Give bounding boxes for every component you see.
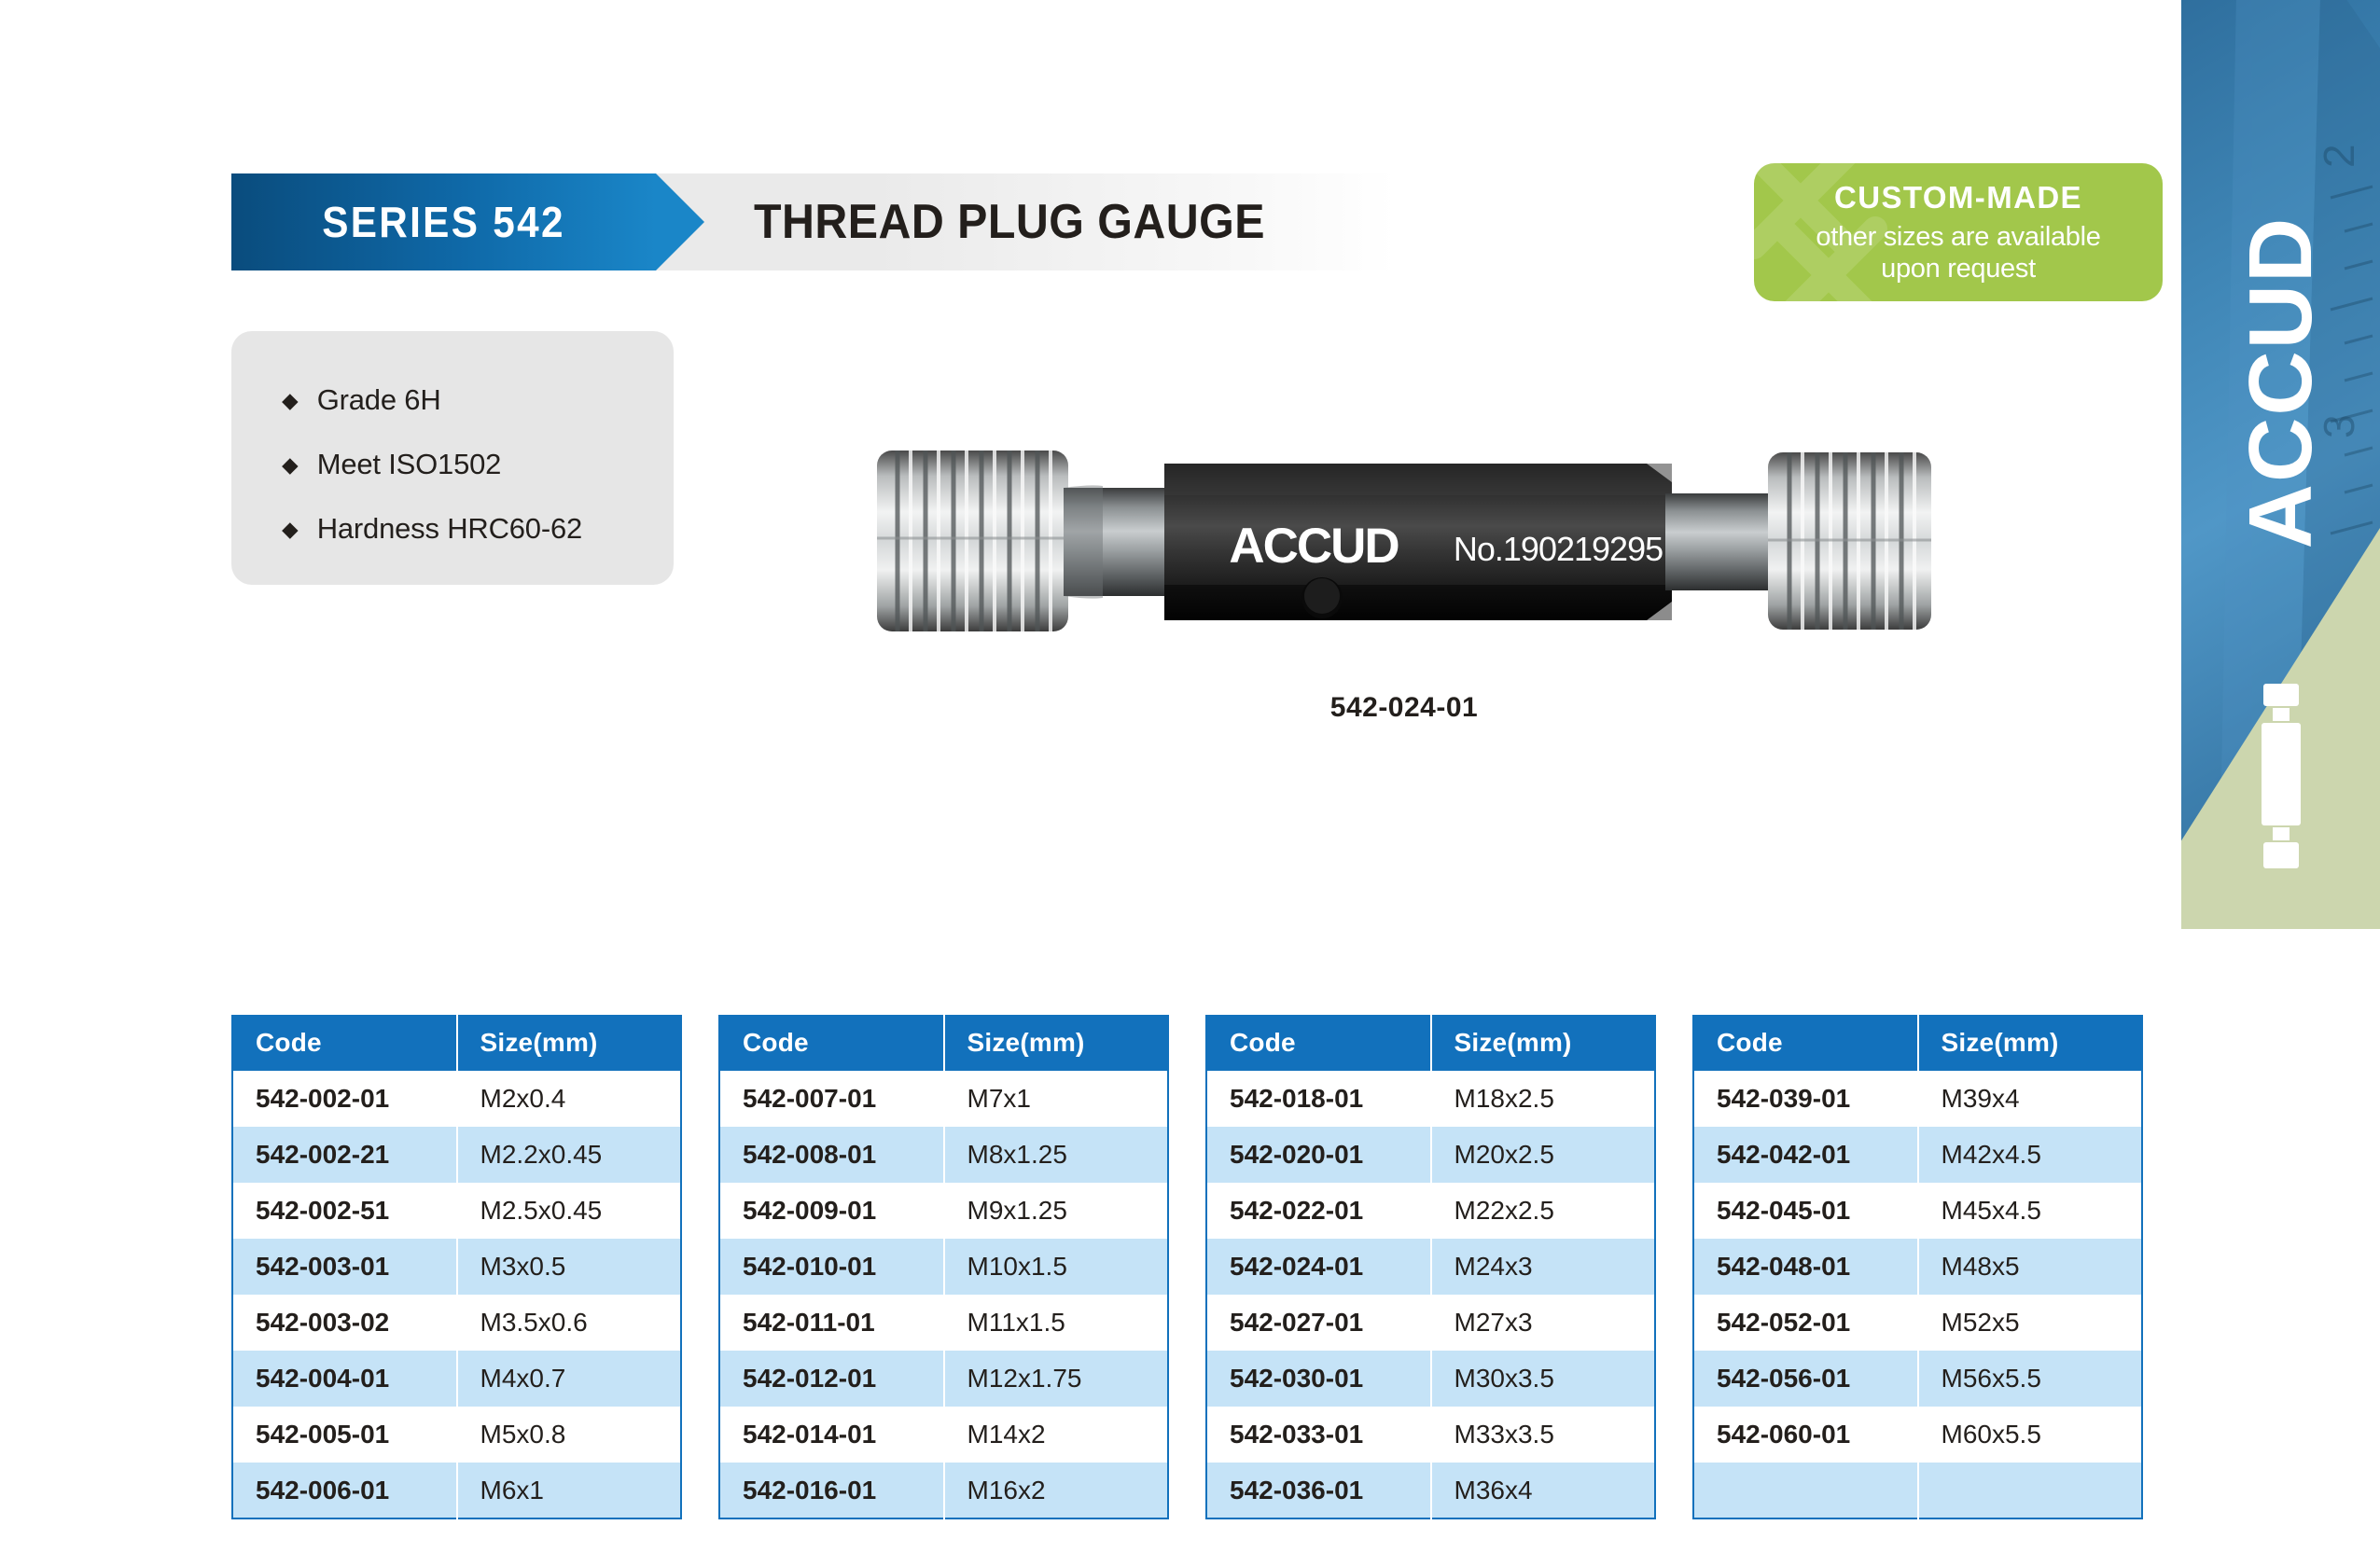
- cell-size: M11x1.5: [944, 1295, 1169, 1351]
- column-header-code: Code: [1206, 1016, 1431, 1071]
- page-title: THREAD PLUG GAUGE: [754, 173, 1265, 270]
- badge-subtitle-line2: upon request: [1881, 254, 2036, 284]
- cell-code: 542-016-01: [719, 1463, 944, 1518]
- cell-code: 542-010-01: [719, 1239, 944, 1295]
- size-table-2: Code Size(mm) 542-007-01 M7x1 542-008-01…: [718, 1015, 1169, 1519]
- diamond-bullet-icon: ◆: [282, 519, 299, 540]
- feature-item: ◆ Meet ISO1502: [282, 448, 674, 481]
- badge-subtitle-line1: other sizes are available: [1816, 222, 2100, 252]
- cell-size: M20x2.5: [1431, 1127, 1656, 1183]
- cell-code: 542-056-01: [1693, 1351, 1918, 1407]
- column-header-size: Size(mm): [1431, 1016, 1656, 1071]
- cell-size: M24x3: [1431, 1239, 1656, 1295]
- cell-size: [1918, 1463, 2143, 1518]
- product-image: ACCUD No.190219295: [868, 424, 1941, 658]
- cell-size: M33x3.5: [1431, 1407, 1656, 1463]
- table-row: 542-022-01 M22x2.5: [1206, 1183, 1655, 1239]
- table-row: 542-004-01 M4x0.7: [232, 1351, 681, 1407]
- column-header-size: Size(mm): [1918, 1016, 2143, 1071]
- cell-code: 542-014-01: [719, 1407, 944, 1463]
- cell-code: 542-002-21: [232, 1127, 457, 1183]
- table-row: 542-039-01 M39x4: [1693, 1071, 2142, 1127]
- table-row: 542-002-51 M2.5x0.45: [232, 1183, 681, 1239]
- cell-code: 542-030-01: [1206, 1351, 1431, 1407]
- cell-size: M45x4.5: [1918, 1183, 2143, 1239]
- cell-code: 542-003-02: [232, 1295, 457, 1351]
- size-table-3: Code Size(mm) 542-018-01 M18x2.5 542-020…: [1205, 1015, 1656, 1519]
- table-row: 542-016-01 M16x2: [719, 1463, 1168, 1518]
- cell-size: M3x0.5: [457, 1239, 682, 1295]
- table-header-row: Code Size(mm): [1693, 1016, 2142, 1071]
- size-tables: Code Size(mm) 542-002-01 M2x0.4 542-002-…: [231, 1015, 2163, 1500]
- cell-size: M3.5x0.6: [457, 1295, 682, 1351]
- cell-size: M16x2: [944, 1463, 1169, 1518]
- cell-size: M5x0.8: [457, 1407, 682, 1463]
- custom-made-badge: CUSTOM-MADE other sizes are available up…: [1754, 163, 2163, 301]
- cell-code: 542-011-01: [719, 1295, 944, 1351]
- column-header-size: Size(mm): [457, 1016, 682, 1071]
- table-row: 542-012-01 M12x1.75: [719, 1351, 1168, 1407]
- cell-size: M12x1.75: [944, 1351, 1169, 1407]
- column-header-code: Code: [1693, 1016, 1918, 1071]
- product-caption: 542-024-01: [868, 692, 1941, 724]
- feature-item: ◆ Grade 6H: [282, 383, 674, 417]
- table-row: 542-002-01 M2x0.4: [232, 1071, 681, 1127]
- cell-code: 542-002-01: [232, 1071, 457, 1127]
- table-row: 542-020-01 M20x2.5: [1206, 1127, 1655, 1183]
- page-header-band: SERIES 542 THREAD PLUG GAUGE: [231, 173, 1396, 270]
- product-serial-text: No.190219295: [1454, 530, 1663, 568]
- table-row: 542-048-01 M48x5: [1693, 1239, 2142, 1295]
- cell-size: M18x2.5: [1431, 1071, 1656, 1127]
- table-row: 542-003-01 M3x0.5: [232, 1239, 681, 1295]
- cell-code: 542-009-01: [719, 1183, 944, 1239]
- sidebar-brand-text: ACCUD: [2230, 216, 2332, 549]
- header-chevron-icon: [656, 173, 704, 270]
- table-row: 542-033-01 M33x3.5: [1206, 1407, 1655, 1463]
- table-row: 542-024-01 M24x3: [1206, 1239, 1655, 1295]
- table-row: 542-027-01 M27x3: [1206, 1295, 1655, 1351]
- cell-size: M56x5.5: [1918, 1351, 2143, 1407]
- cell-size: M2x0.4: [457, 1071, 682, 1127]
- table-row: 542-052-01 M52x5: [1693, 1295, 2142, 1351]
- cell-size: M8x1.25: [944, 1127, 1169, 1183]
- cell-size: M52x5: [1918, 1295, 2143, 1351]
- series-label: SERIES 542: [248, 173, 639, 270]
- feature-item: ◆ Hardness HRC60-62: [282, 512, 674, 546]
- cell-code: 542-006-01: [232, 1463, 457, 1518]
- table-row: 542-009-01 M9x1.25: [719, 1183, 1168, 1239]
- cell-size: M39x4: [1918, 1071, 2143, 1127]
- cell-code: 542-024-01: [1206, 1239, 1431, 1295]
- column-header-size: Size(mm): [944, 1016, 1169, 1071]
- right-shank: [1665, 493, 1777, 590]
- feature-label: Meet ISO1502: [317, 448, 502, 481]
- table-row: 542-056-01 M56x5.5: [1693, 1351, 2142, 1407]
- cell-code: 542-045-01: [1693, 1183, 1918, 1239]
- size-table-1: Code Size(mm) 542-002-01 M2x0.4 542-002-…: [231, 1015, 682, 1519]
- feature-list-box: ◆ Grade 6H ◆ Meet ISO1502 ◆ Hardness HRC…: [231, 331, 674, 585]
- cell-code: 542-060-01: [1693, 1407, 1918, 1463]
- cell-code: 542-018-01: [1206, 1071, 1431, 1127]
- cell-size: M6x1: [457, 1463, 682, 1518]
- cell-size: M4x0.7: [457, 1351, 682, 1407]
- table-row: 542-006-01 M6x1: [232, 1463, 681, 1518]
- column-header-code: Code: [719, 1016, 944, 1071]
- hex-body: ACCUD No.190219295: [1164, 464, 1672, 620]
- diamond-bullet-icon: ◆: [282, 390, 299, 411]
- svg-text:2: 2: [2315, 144, 2363, 168]
- column-header-code: Code: [232, 1016, 457, 1071]
- cell-code: 542-022-01: [1206, 1183, 1431, 1239]
- cell-code: 542-005-01: [232, 1407, 457, 1463]
- cell-size: M2.2x0.45: [457, 1127, 682, 1183]
- table-row: 542-014-01 M14x2: [719, 1407, 1168, 1463]
- feature-label: Grade 6H: [317, 383, 441, 417]
- cell-code: 542-052-01: [1693, 1295, 1918, 1351]
- cell-size: M14x2: [944, 1407, 1169, 1463]
- cell-size: M30x3.5: [1431, 1351, 1656, 1407]
- cell-code: 542-007-01: [719, 1071, 944, 1127]
- cell-code: 542-002-51: [232, 1183, 457, 1239]
- table-row: 542-010-01 M10x1.5: [719, 1239, 1168, 1295]
- table-row: 542-005-01 M5x0.8: [232, 1407, 681, 1463]
- cell-code: 542-003-01: [232, 1239, 457, 1295]
- plug-gauge-silhouette-icon: [2260, 684, 2303, 875]
- table-row: 542-007-01 M7x1: [719, 1071, 1168, 1127]
- right-thread-head: [1766, 449, 1934, 633]
- feature-label: Hardness HRC60-62: [317, 512, 582, 546]
- table-row: 542-011-01 M11x1.5: [719, 1295, 1168, 1351]
- table-row: 542-042-01 M42x4.5: [1693, 1127, 2142, 1183]
- cell-code: [1693, 1463, 1918, 1518]
- cell-size: M22x2.5: [1431, 1183, 1656, 1239]
- table-row-empty: [1693, 1463, 2142, 1518]
- left-thread-head: [875, 447, 1071, 635]
- cell-code: 542-036-01: [1206, 1463, 1431, 1518]
- table-row: 542-002-21 M2.2x0.45: [232, 1127, 681, 1183]
- cell-code: 542-042-01: [1693, 1127, 1918, 1183]
- product-brand-text: ACCUD: [1229, 519, 1399, 574]
- table-row: 542-036-01 M36x4: [1206, 1463, 1655, 1518]
- cell-code: 542-008-01: [719, 1127, 944, 1183]
- cell-code: 542-039-01: [1693, 1071, 1918, 1127]
- cell-size: M7x1: [944, 1071, 1169, 1127]
- table-row: 542-030-01 M30x3.5: [1206, 1351, 1655, 1407]
- size-table-4: Code Size(mm) 542-039-01 M39x4 542-042-0…: [1692, 1015, 2143, 1519]
- cell-code: 542-004-01: [232, 1351, 457, 1407]
- cell-size: M9x1.25: [944, 1183, 1169, 1239]
- table-header-row: Code Size(mm): [232, 1016, 681, 1071]
- table-row: 542-018-01 M18x2.5: [1206, 1071, 1655, 1127]
- cell-size: M48x5: [1918, 1239, 2143, 1295]
- cell-size: M36x4: [1431, 1463, 1656, 1518]
- thread-plug-gauge-illustration: ACCUD No.190219295: [868, 424, 1941, 658]
- table-row: 542-045-01 M45x4.5: [1693, 1183, 2142, 1239]
- badge-title: CUSTOM-MADE: [1834, 180, 2082, 215]
- table-header-row: Code Size(mm): [1206, 1016, 1655, 1071]
- cell-code: 542-033-01: [1206, 1407, 1431, 1463]
- table-row: 542-060-01 M60x5.5: [1693, 1407, 2142, 1463]
- cell-size: M27x3: [1431, 1295, 1656, 1351]
- badge-subtitle: other sizes are available upon request: [1816, 221, 2100, 284]
- cell-code: 542-020-01: [1206, 1127, 1431, 1183]
- table-row: 542-008-01 M8x1.25: [719, 1127, 1168, 1183]
- catalog-page: SERIES 542 THREAD PLUG GAUGE CUSTOM-MADE…: [0, 0, 2380, 1553]
- cell-size: M10x1.5: [944, 1239, 1169, 1295]
- cell-size: M42x4.5: [1918, 1127, 2143, 1183]
- cell-code: 542-048-01: [1693, 1239, 1918, 1295]
- cell-size: M2.5x0.45: [457, 1183, 682, 1239]
- cell-size: M60x5.5: [1918, 1407, 2143, 1463]
- cell-code: 542-012-01: [719, 1351, 944, 1407]
- diamond-bullet-icon: ◆: [282, 454, 299, 476]
- cell-code: 542-027-01: [1206, 1295, 1431, 1351]
- brand-sidebar: 2 3 ACCUD: [2181, 0, 2380, 929]
- table-header-row: Code Size(mm): [719, 1016, 1168, 1071]
- table-row: 542-003-02 M3.5x0.6: [232, 1295, 681, 1351]
